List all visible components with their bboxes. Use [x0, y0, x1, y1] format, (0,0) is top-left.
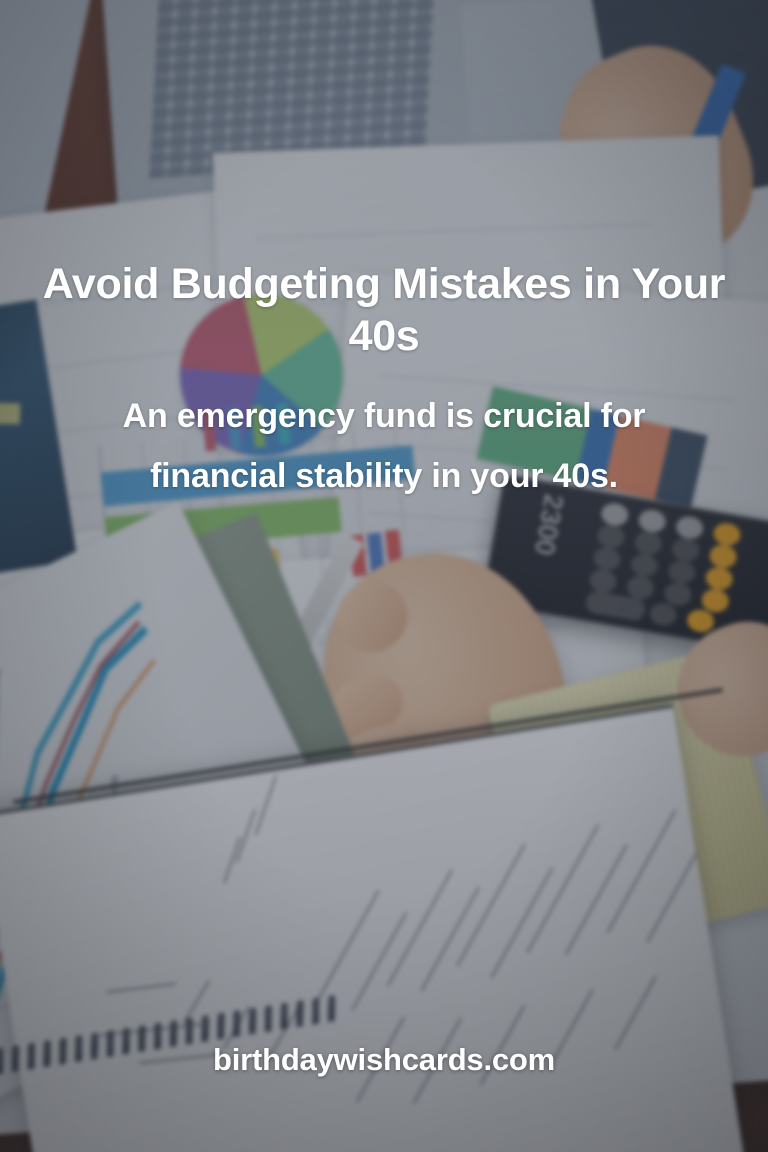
- pin-title: Avoid Budgeting Mistakes in Your 40s: [0, 258, 768, 362]
- text-overlay: Avoid Budgeting Mistakes in Your 40s An …: [0, 0, 768, 1152]
- pinterest-pin-graphic: 2300: [0, 0, 768, 1152]
- website-url[interactable]: birthdaywishcards.com: [0, 1042, 768, 1078]
- pin-subtitle: An emergency fund is crucial for financi…: [0, 386, 768, 506]
